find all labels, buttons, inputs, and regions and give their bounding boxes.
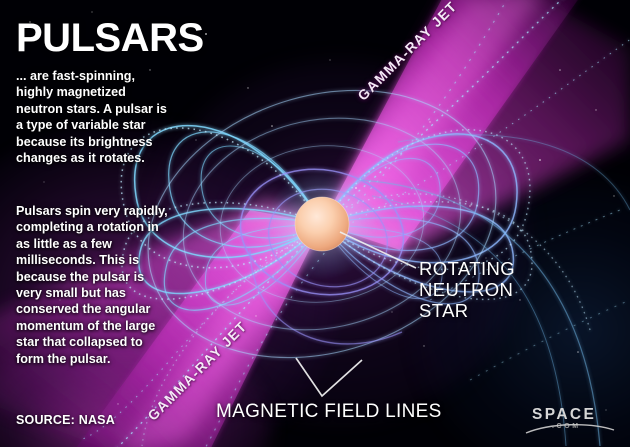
source-credit: SOURCE: NASA [16,413,115,427]
callout-line-1: ROTATING [419,258,515,279]
page-title: PULSARS [16,18,204,58]
pulsars-infographic: PULSARS ... are fast-spinning, highly ma… [0,0,630,447]
v-leader-to-field-lines [296,358,362,396]
callout-line-2: NEUTRON [419,279,515,300]
detail-paragraph: Pulsars spin very rapidly, completing a … [16,203,168,367]
intro-paragraph: ... are fast-spinning, highly magnetized… [16,68,172,166]
callout-line-3: STAR [419,300,515,321]
space-com-logo[interactable]: SPACE .COM [524,406,616,438]
callout-rotating-neutron-star: ROTATING NEUTRON STAR [419,258,515,321]
rotating-neutron-star [266,168,378,280]
logo-swoosh-icon [524,406,616,438]
callout-magnetic-field-lines: MAGNETIC FIELD LINES [216,401,442,423]
